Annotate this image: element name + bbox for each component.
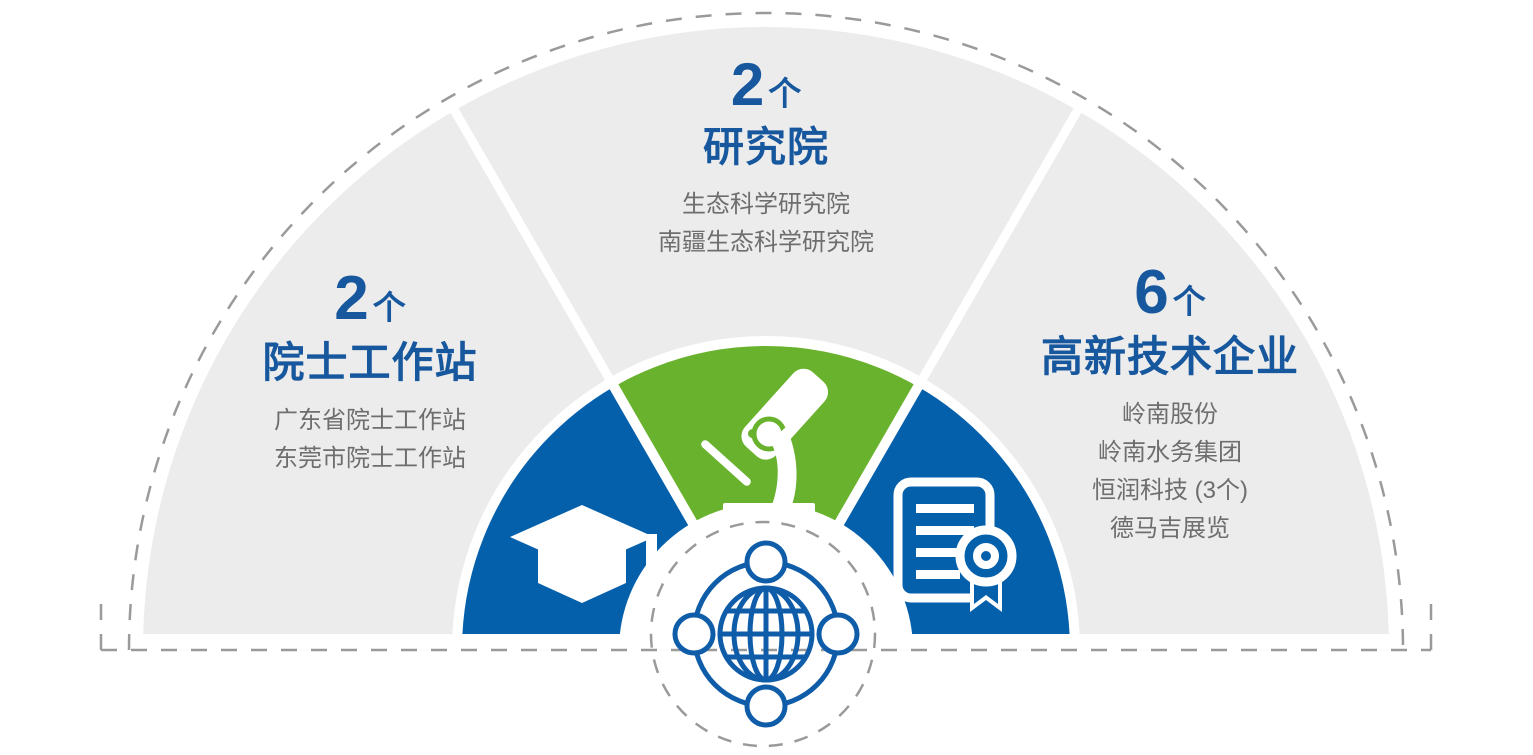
list-item: 岭南水务集团 (950, 434, 1390, 472)
segment-middle-count-row: 2个 (546, 55, 986, 115)
segment-right-count-row: 6个 (950, 262, 1390, 324)
segment-left-list: 广东省院士工作站 东莞市院士工作站 (150, 402, 590, 478)
segment-middle-list: 生态科学研究院 南疆生态科学研究院 (546, 186, 986, 262)
segment-middle-title: 研究院 (546, 127, 986, 168)
list-item: 南疆生态科学研究院 (546, 224, 986, 262)
list-item: 恒润科技 (3个) (950, 472, 1390, 510)
segment-middle-count: 2 (731, 51, 764, 118)
list-item: 岭南股份 (950, 396, 1390, 434)
segment-middle-text: 2个 研究院 生态科学研究院 南疆生态科学研究院 (546, 55, 986, 262)
list-item: 东莞市院士工作站 (150, 440, 590, 478)
segment-middle-unit: 个 (768, 75, 801, 112)
segment-right-text: 6个 高新技术企业 岭南股份 岭南水务集团 恒润科技 (3个) 德马吉展览 (950, 262, 1390, 548)
segment-left-count: 2 (334, 264, 368, 333)
segment-left-text: 2个 院士工作站 广东省院士工作站 东莞市院士工作站 (150, 268, 590, 478)
segment-right-list: 岭南股份 岭南水务集团 恒润科技 (3个) 德马吉展览 (950, 396, 1390, 548)
list-item: 生态科学研究院 (546, 186, 986, 224)
segment-right-unit: 个 (1173, 283, 1206, 320)
segment-left-title: 院士工作站 (150, 342, 590, 384)
infographic-canvas: 2个 院士工作站 广东省院士工作站 东莞市院士工作站 2个 研究院 生态科学研究… (0, 0, 1533, 755)
segment-left-count-row: 2个 (150, 268, 590, 330)
segment-left-unit: 个 (373, 289, 406, 326)
segment-right-title: 高新技术企业 (950, 336, 1390, 378)
list-item: 广东省院士工作站 (150, 402, 590, 440)
segment-right-count: 6 (1134, 258, 1168, 327)
list-item: 德马吉展览 (950, 510, 1390, 548)
